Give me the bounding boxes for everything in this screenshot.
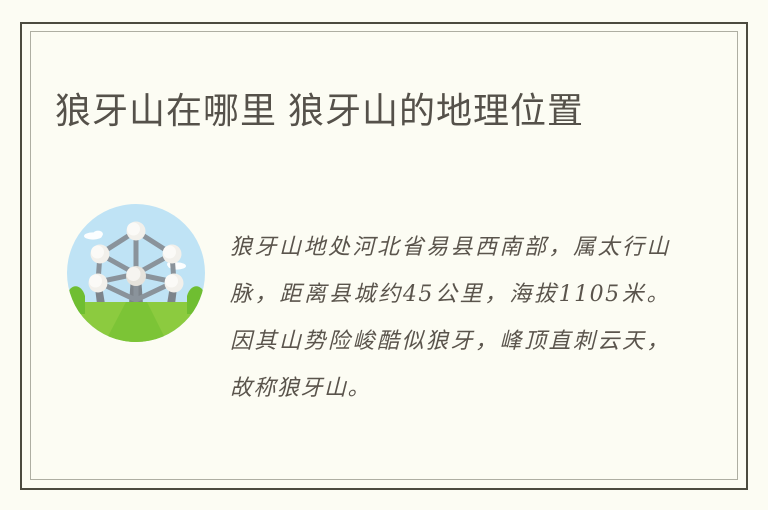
article-content: 狼牙山地处河北省易县西南部，属太行山脉，距离县城约45公里，海拔1105米。因其… <box>55 196 685 446</box>
atomium-monument-icon <box>67 204 205 342</box>
article-body: 狼牙山地处河北省易县西南部，属太行山脉，距离县城约45公里，海拔1105米。因其… <box>230 224 670 412</box>
document-page: 狼牙山在哪里 狼牙山的地理位置 <box>0 0 768 510</box>
page-title: 狼牙山在哪里 狼牙山的地理位置 <box>55 87 695 135</box>
